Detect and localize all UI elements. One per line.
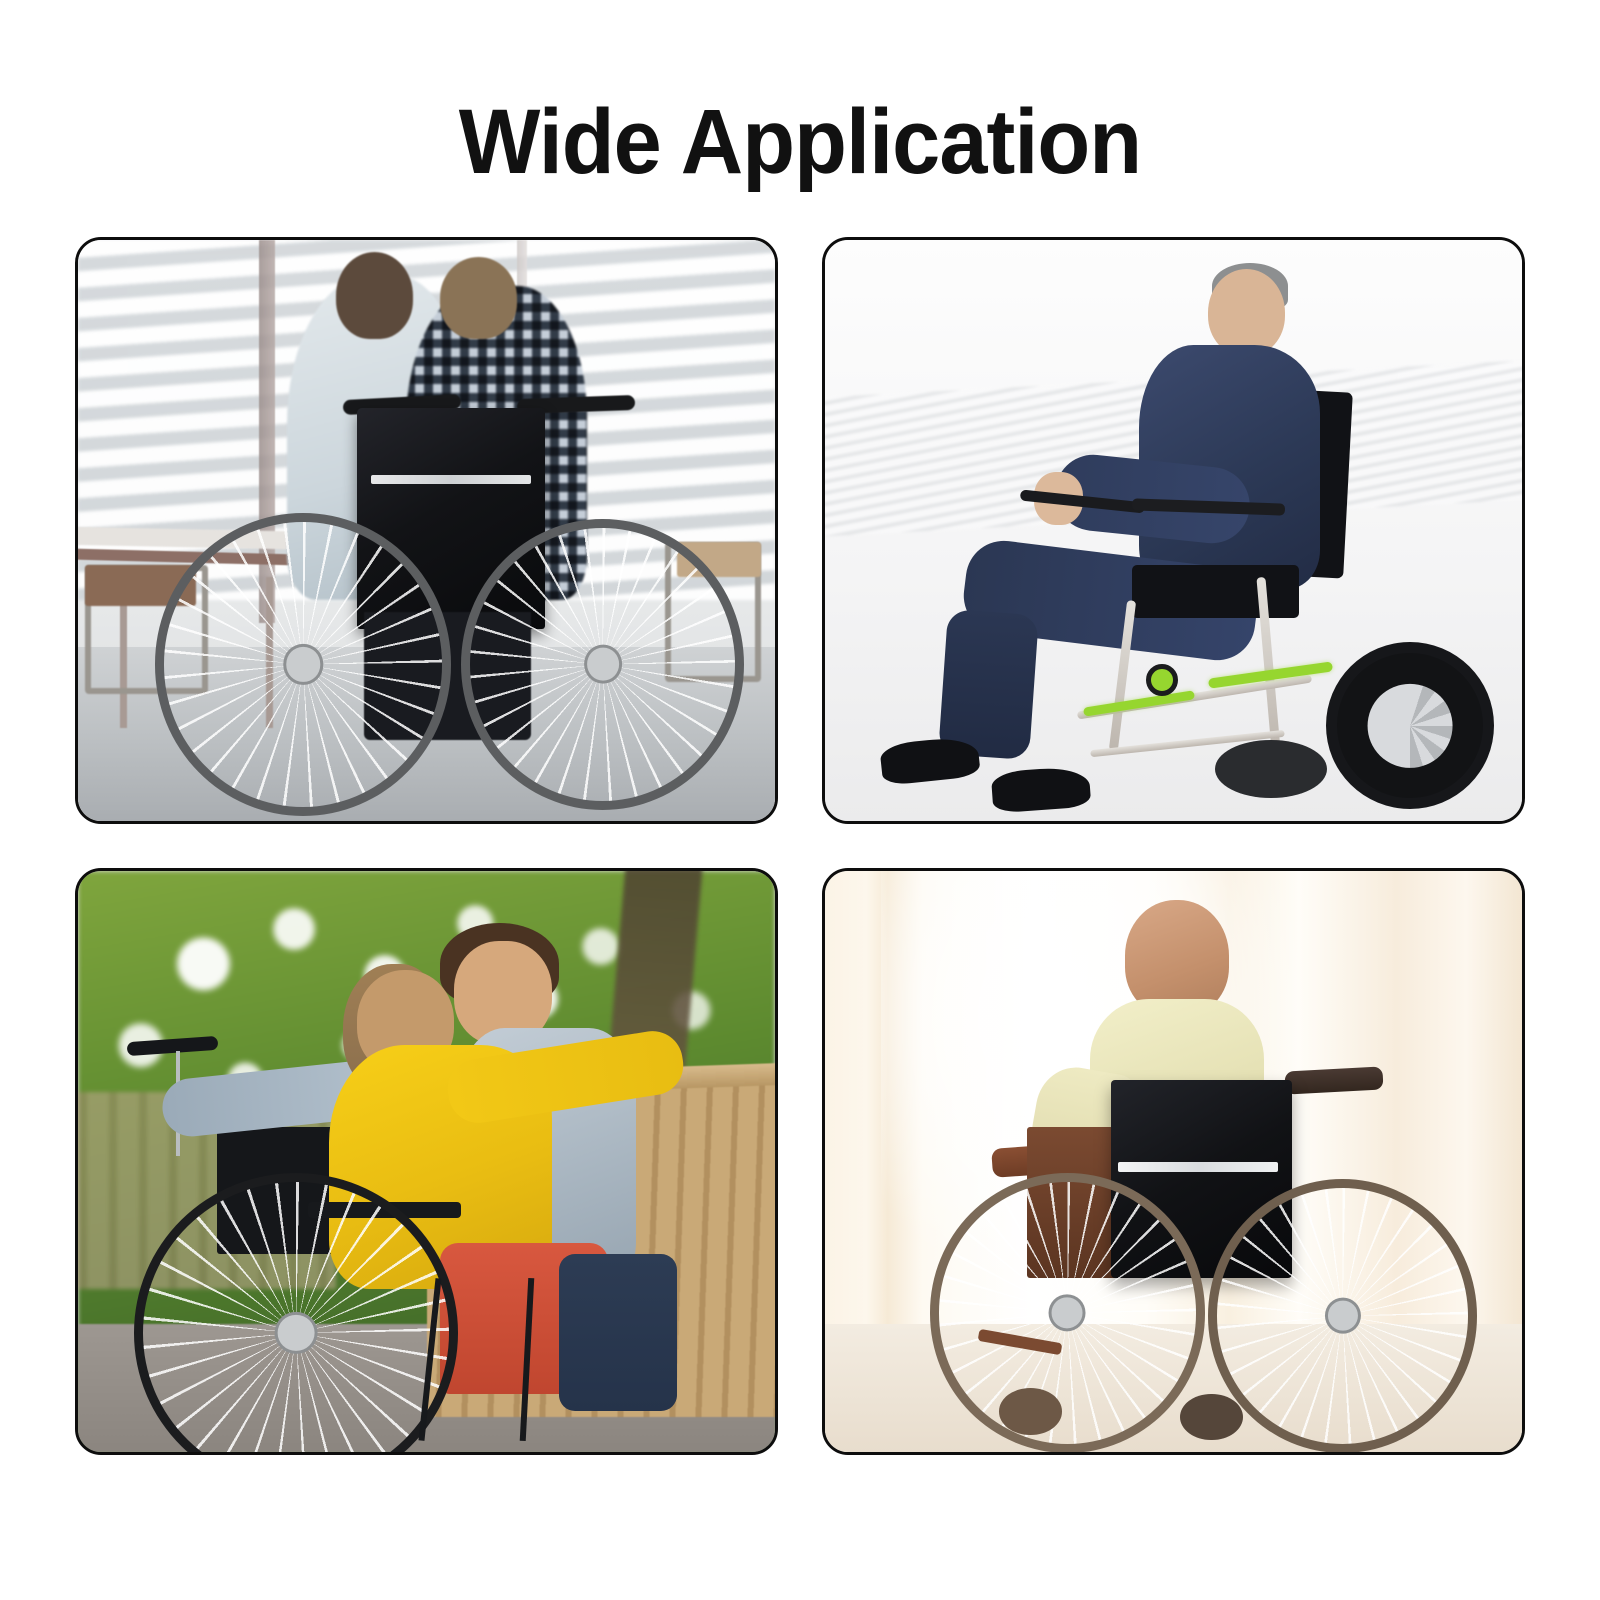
person-shin [939, 609, 1040, 760]
child-jeans [559, 1254, 677, 1411]
green-hub-cap [1146, 664, 1178, 696]
photo-outdoor-scene [78, 871, 775, 1452]
person-head [336, 252, 413, 339]
wheelchair-seat-cushion [1132, 565, 1299, 617]
wheelchair-rear-wheel [461, 519, 744, 810]
wheel-rim [1368, 684, 1453, 768]
product-marketing-image: Wide Application [0, 0, 1600, 1600]
wheelchair-motor-housing [1215, 740, 1327, 798]
wheel-hub [584, 645, 622, 684]
photo-studio-scene [825, 240, 1522, 821]
photo-office-scene [78, 240, 775, 821]
wheel-hub [1049, 1294, 1086, 1331]
wheelchair-rear-wheel [155, 513, 452, 816]
wheel-hub [1325, 1297, 1361, 1334]
wheelchair-drive-wheel [1326, 642, 1494, 809]
gallery-panel-office[interactable] [75, 237, 778, 824]
wheelchair-caster-wheel [999, 1388, 1062, 1434]
wheel-hub [275, 1312, 318, 1354]
page-title: Wide Application [48, 96, 1552, 188]
wheelchair-rear-wheel [1208, 1179, 1477, 1452]
person-head [440, 257, 517, 338]
wheel-hub [283, 644, 322, 684]
wheelchair-armrest [1284, 1066, 1383, 1094]
photo-home-scene [825, 871, 1522, 1452]
reflective-strip [371, 475, 531, 484]
person-head [1208, 269, 1285, 356]
reflective-strip [1118, 1162, 1278, 1172]
gallery-panel-outdoor[interactable] [75, 868, 778, 1455]
gallery-panel-home[interactable] [822, 868, 1525, 1455]
wheelchair-rear-wheel [930, 1173, 1206, 1452]
gallery-panel-studio[interactable] [822, 237, 1525, 824]
image-gallery-grid [75, 237, 1525, 1455]
